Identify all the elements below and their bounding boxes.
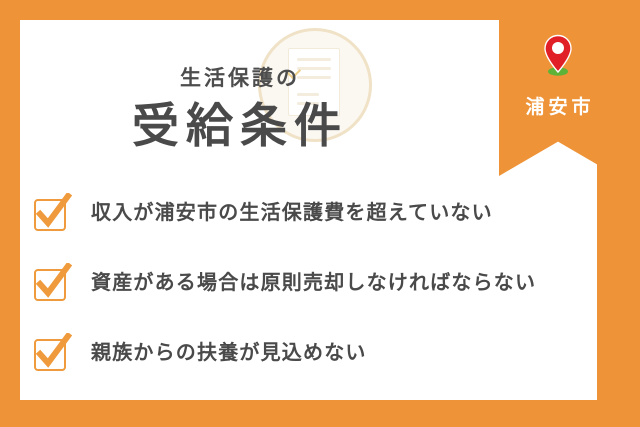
check-mark-icon: [32, 333, 72, 373]
checklist: 収入が浦安市の生活保護費を超えていない 資産がある場合は原則売却しなければならな…: [20, 178, 597, 388]
list-item: 親族からの扶養が見込めない: [20, 318, 597, 388]
content-card: 生活保護の 受給条件 浦安市 収入が浦安: [20, 20, 597, 400]
checkbox-checked-icon: [32, 263, 72, 303]
list-item-label: 収入が浦安市の生活保護費を超えていない: [91, 203, 493, 223]
list-item: 収入が浦安市の生活保護費を超えていない: [20, 178, 597, 248]
page-subtitle: 生活保護の: [20, 68, 460, 89]
city-label: 浦安市: [499, 92, 597, 119]
checkbox-checked-icon: [32, 333, 72, 373]
header: 生活保護の 受給条件 浦安市: [20, 20, 597, 170]
check-mark-icon: [32, 263, 72, 303]
check-mark-icon: [32, 193, 72, 233]
list-item-label: 資産がある場合は原則売却しなければならない: [91, 273, 536, 293]
watermark-line: [297, 93, 319, 96]
list-item: 資産がある場合は原則売却しなければならない: [20, 248, 597, 318]
poster-root: 生活保護の 受給条件 浦安市 収入が浦安: [0, 0, 640, 427]
list-item-label: 親族からの扶養が見込めない: [91, 343, 367, 363]
checkbox-checked-icon: [32, 193, 72, 233]
map-pin-icon: [541, 34, 575, 76]
page-title: 受給条件: [20, 100, 460, 152]
watermark-line: [297, 58, 331, 61]
city-ribbon: 浦安市: [499, 20, 597, 176]
